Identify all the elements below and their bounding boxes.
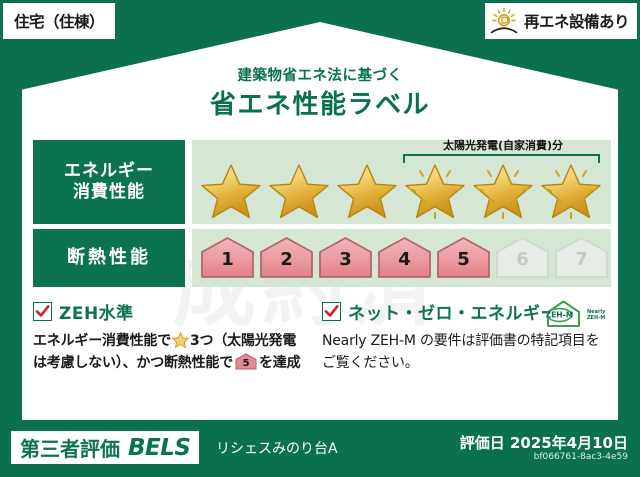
insulation-level-2: 2 [258, 235, 315, 281]
zeh-m-logo-sublabel: Nearly ZEH-M [587, 310, 607, 322]
renewable-equipment-badge: 再エネ設備あり [485, 3, 637, 39]
bels-jp-label: 第三者評価 [20, 433, 120, 462]
building-type-badge-label: 住宅（住棟） [14, 10, 104, 32]
insulation-level-7: 7 [553, 235, 610, 281]
star-6 [538, 159, 604, 221]
label-panel: 成約済 建築物省エネ法に基づく 省エネ性能ラベル エネルギー 消費性能 太陽光発… [22, 22, 618, 420]
star-2 [266, 159, 332, 221]
star-5 [470, 159, 536, 221]
zeh-desc-part2: は考慮しない）、かつ断熱性能で [33, 355, 233, 371]
zeh-m-logo-icon: ZEH-M Nearly ZEH-M [545, 299, 607, 329]
renewable-badge-label: 再エネ設備あり [524, 10, 629, 32]
zeh-desc-part1: エネルギー消費性能で [33, 333, 171, 349]
insulation-level-5: 5 [435, 235, 492, 281]
solar-sun-icon [489, 7, 519, 35]
insulation-level-number: 5 [435, 249, 492, 270]
insulation-level-1: 1 [199, 235, 256, 281]
zeh-title: ZEH水準 [59, 299, 134, 324]
nze-description: Nearly ZEH-M の要件は評価書の特記項目をご覧ください。 [322, 331, 603, 374]
insulation-level-4: 4 [376, 235, 433, 281]
solar-bracket-label: 太陽光発電(自家消費)分 [388, 137, 618, 153]
evaluation-date: 評価日 2025年4月10日 [460, 432, 628, 453]
energy-key-line2: 消費性能 [73, 182, 145, 203]
insulation-performance-key: 断熱性能 [33, 229, 185, 287]
energy-performance-row: エネルギー 消費性能 太陽光発電(自家消費)分 [33, 140, 611, 224]
energy-key-line1: エネルギー [64, 161, 154, 182]
inline-house-number: 5 [235, 356, 257, 372]
insulation-key-label: 断熱性能 [67, 247, 151, 269]
insulation-level-3: 3 [317, 235, 374, 281]
insulation-level-number: 1 [199, 249, 256, 270]
insulation-level-number: 4 [376, 249, 433, 270]
star-4 [402, 159, 468, 221]
evaluation-date-value: 2025年4月10日 [510, 434, 628, 452]
evaluation-date-label: 評価日 [460, 434, 505, 452]
zeh-checkbox[interactable] [33, 302, 52, 321]
insulation-level-number: 3 [317, 249, 374, 270]
bels-certification-badge: 第三者評価 BELS [11, 431, 199, 464]
nze-criteria-block: ネット・ゼロ・エネルギー ZEH-M Nearly ZEH-M [322, 298, 611, 390]
energy-performance-label: 住宅（住棟） 再エネ設備あり 成約済 [0, 0, 640, 477]
nze-checkbox[interactable] [322, 302, 341, 321]
insulation-level-number: 7 [553, 249, 610, 270]
label-subtitle: 建築物省エネ法に基づく [22, 64, 618, 85]
insulation-level-number: 2 [258, 249, 315, 270]
building-type-badge: 住宅（住棟） [3, 3, 115, 39]
energy-performance-key: エネルギー 消費性能 [33, 140, 185, 224]
footer-bar: 第三者評価 BELS リシェスみのり台A 評価日 2025年4月10日 bf06… [0, 424, 640, 477]
insulation-performance-value: 1234567 [192, 229, 611, 287]
zeh-criteria-block: ZEH水準 エネルギー消費性能で3つ（太陽光発電は考慮しない）、かつ断熱性能で5… [33, 298, 322, 390]
star-rating [198, 158, 605, 221]
label-title: 省エネ性能ラベル [22, 84, 618, 121]
svg-text:ZEH-M: ZEH-M [546, 311, 574, 320]
bels-en-label: BELS [128, 435, 190, 461]
criteria-section: ZEH水準 エネルギー消費性能で3つ（太陽光発電は考慮しない）、かつ断熱性能で5… [33, 298, 611, 390]
zeh-description: エネルギー消費性能で3つ（太陽光発電は考慮しない）、かつ断熱性能で5を達成 [33, 331, 314, 374]
star-3 [334, 159, 400, 221]
zeh-desc-part3: を達成 [259, 355, 300, 371]
zeh-m-sub-line2: ZEH-M [587, 315, 605, 321]
star-1 [198, 159, 264, 221]
nze-title: ネット・ゼロ・エネルギー [348, 299, 558, 324]
inline-house-icon: 5 [235, 353, 257, 370]
building-name: リシェスみのり台A [216, 438, 338, 458]
energy-performance-value: 太陽光発電(自家消費)分 [192, 140, 611, 224]
insulation-level-6: 6 [494, 235, 551, 281]
evaluation-id: bf066761-8ac3-4e59 [534, 452, 628, 462]
inline-star-icon [172, 332, 189, 348]
insulation-level-scale: 1234567 [199, 233, 605, 283]
insulation-performance-row: 断熱性能 1234567 [33, 229, 611, 287]
insulation-level-number: 6 [494, 249, 551, 270]
zeh-desc-stars: 3つ（太陽光発電 [190, 333, 296, 349]
